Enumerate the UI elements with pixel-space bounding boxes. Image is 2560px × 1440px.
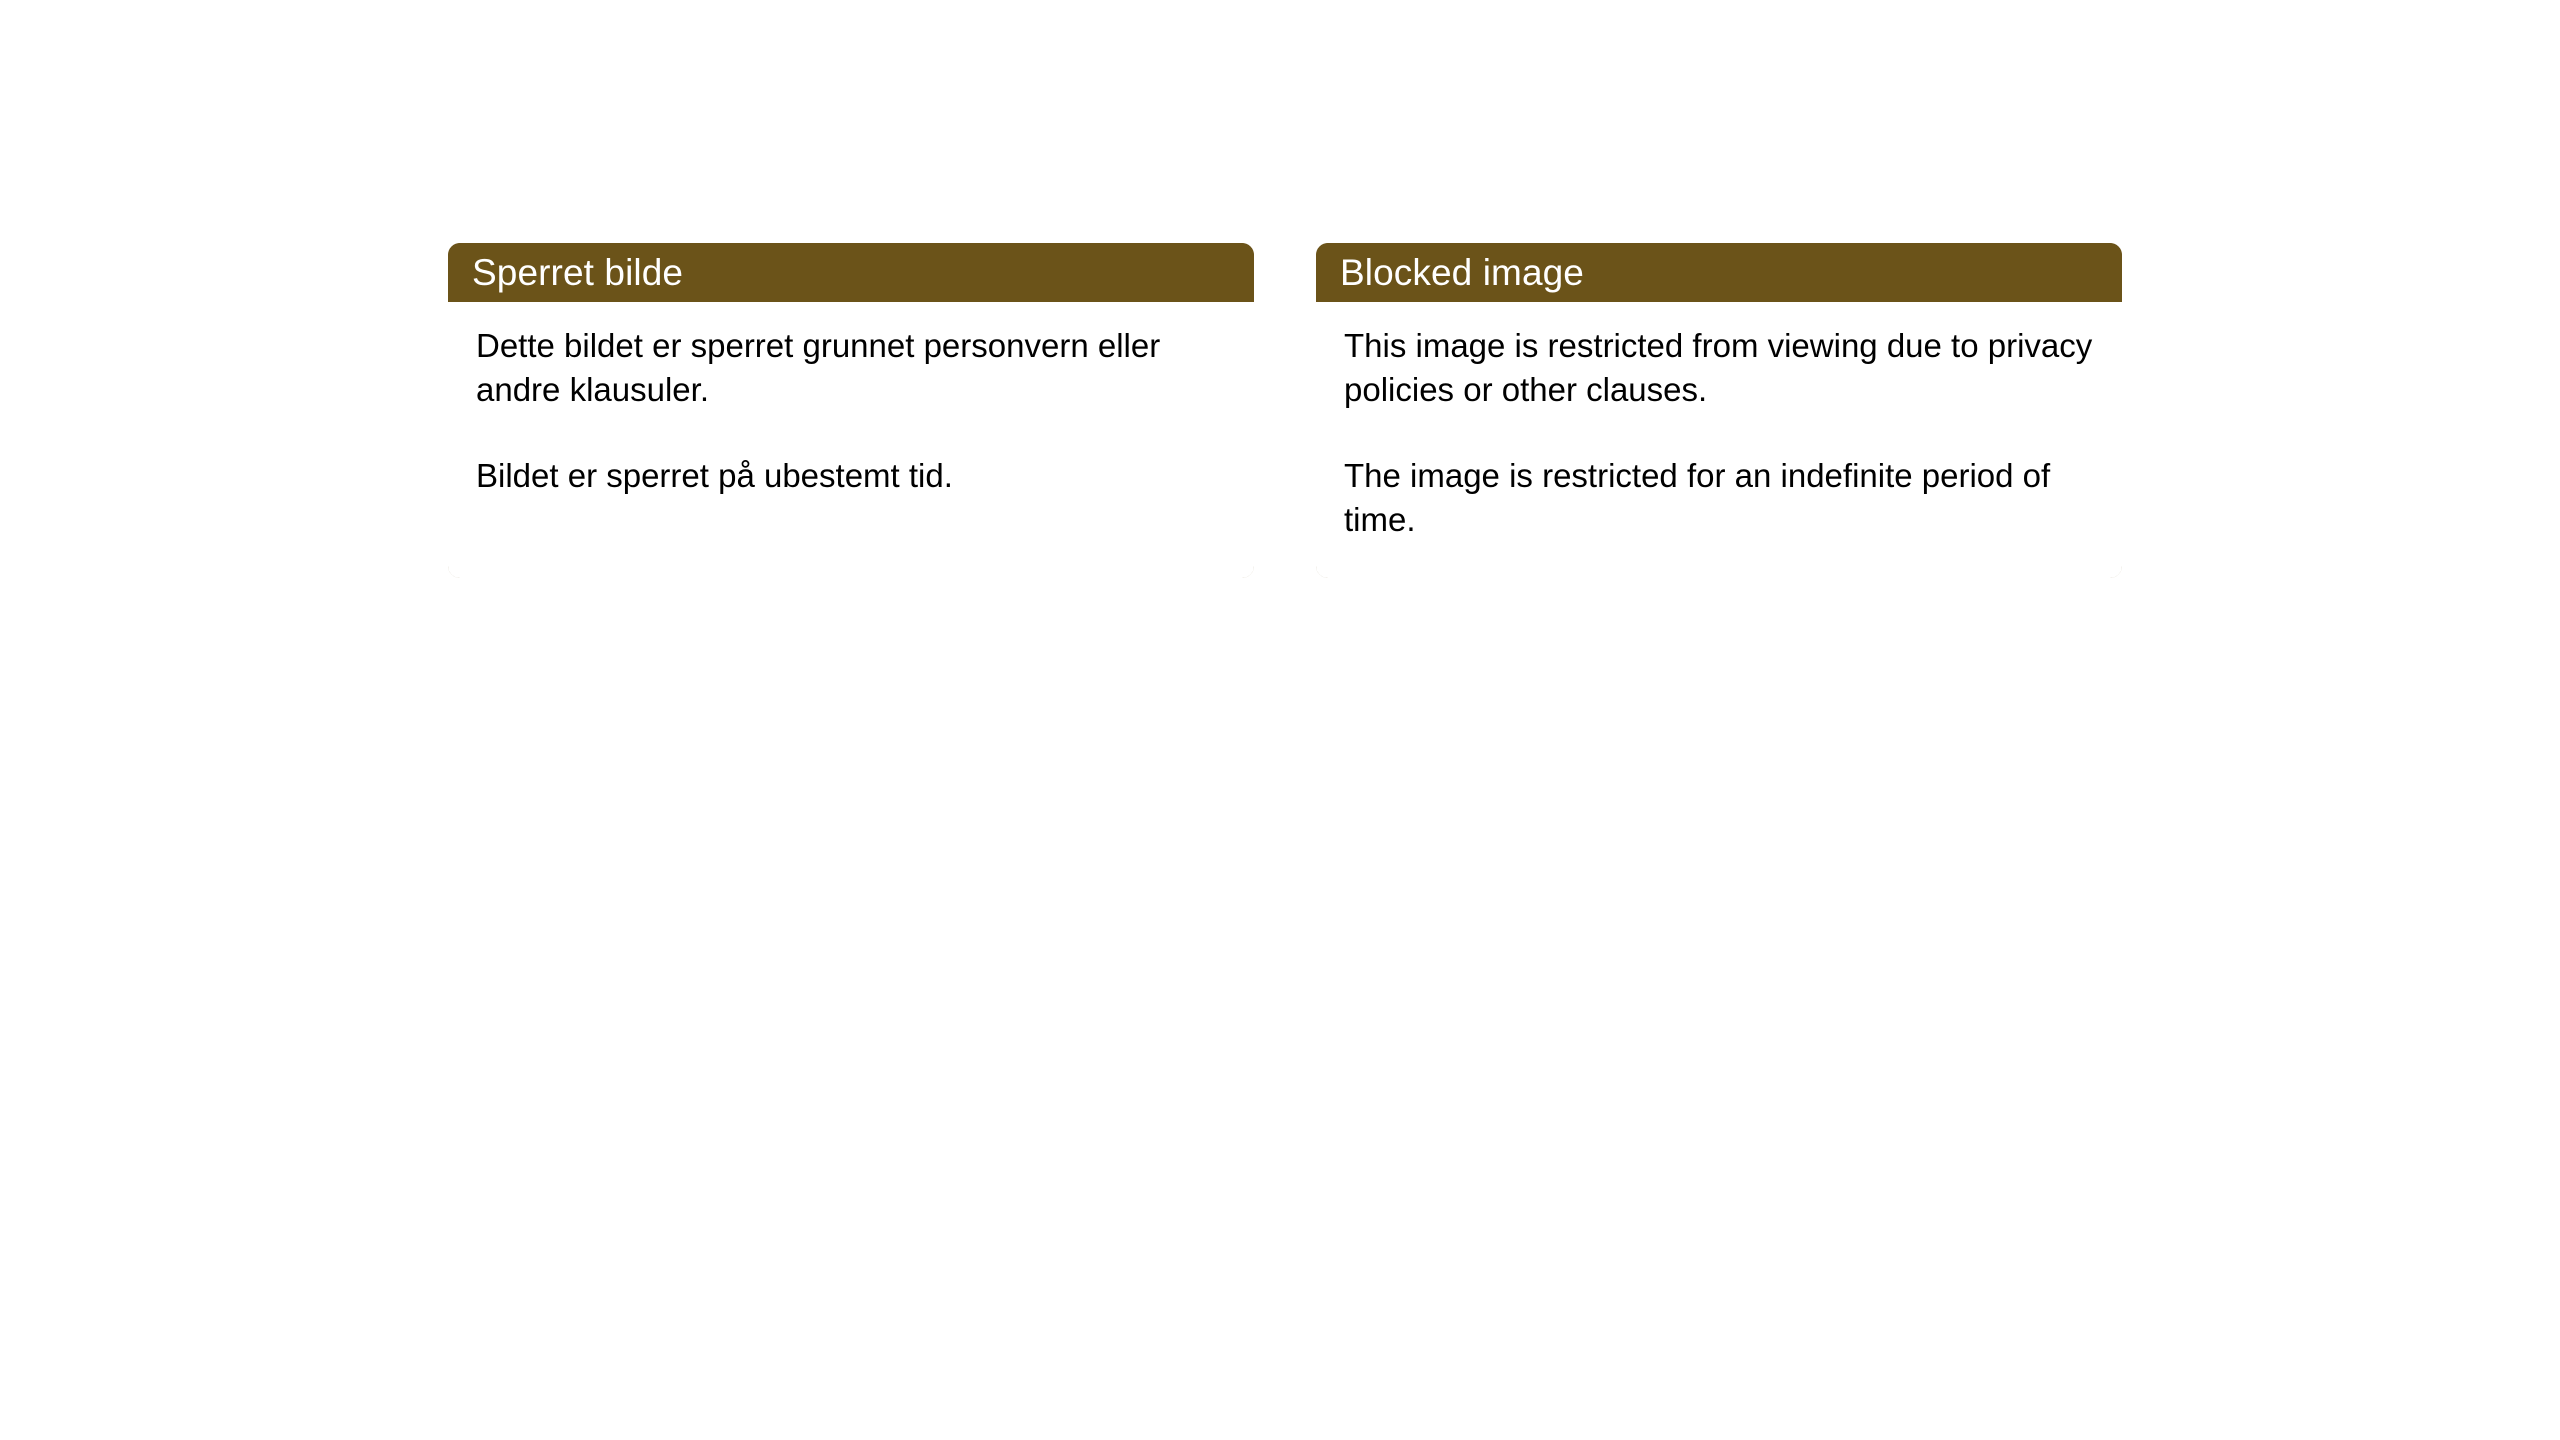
panel-header-english: Blocked image [1316,243,2122,302]
panel-paragraph-english-1: This image is restricted from viewing du… [1344,324,2098,412]
panel-paragraph-english-2: The image is restricted for an indefinit… [1344,454,2098,542]
panel-paragraph-norwegian-1: Dette bildet er sperret grunnet personve… [476,324,1230,412]
panel-body-english: This image is restricted from viewing du… [1316,302,2122,578]
panel-title-english: Blocked image [1340,254,1584,291]
blocked-image-notice-group: Sperret bilde Dette bildet er sperret gr… [448,243,2122,578]
blocked-image-panel-english: Blocked image This image is restricted f… [1316,243,2122,578]
panel-paragraph-norwegian-2: Bildet er sperret på ubestemt tid. [476,454,1230,498]
panel-header-norwegian: Sperret bilde [448,243,1254,302]
panel-title-norwegian: Sperret bilde [472,254,683,291]
blocked-image-panel-norwegian: Sperret bilde Dette bildet er sperret gr… [448,243,1254,578]
panel-body-norwegian: Dette bildet er sperret grunnet personve… [448,302,1254,578]
